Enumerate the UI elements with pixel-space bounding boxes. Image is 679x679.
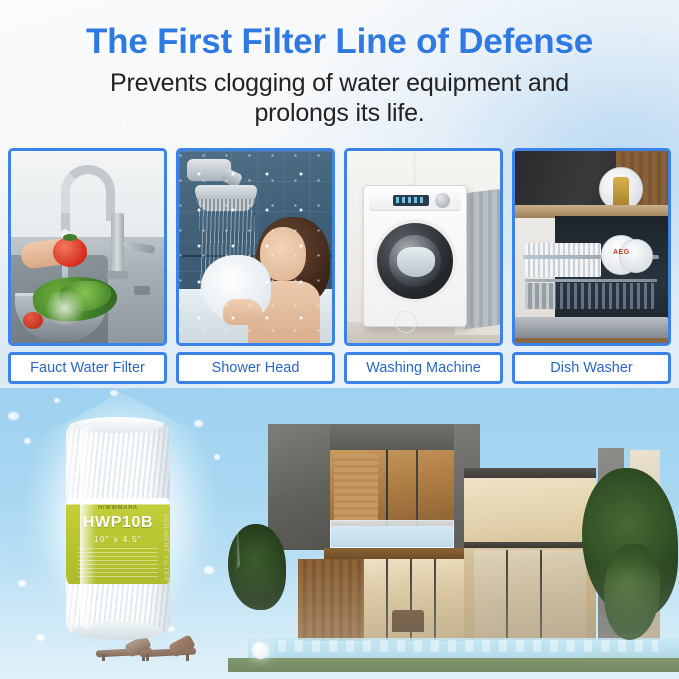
lower-rack — [525, 283, 657, 309]
subtitle-line-2: prolongs its life. — [0, 99, 679, 129]
water-droplet — [194, 420, 203, 427]
washing-machine-photo — [344, 148, 503, 346]
kitchen-floor — [515, 338, 668, 343]
sink-drain — [134, 286, 150, 295]
dishwasher-photo: AEG — [512, 148, 671, 346]
filter-cartridge: HIWWMARK HWP10B 10" x 4.5" SEDIMENT FILT… — [66, 422, 170, 634]
cartridge-highlight — [80, 426, 96, 630]
wood-soffit — [324, 548, 466, 559]
water-droplet — [36, 634, 45, 641]
application-card-shower: Shower Head — [176, 148, 335, 384]
rack-rail — [525, 279, 657, 282]
water-splash: HIWWMARK HWP10B 10" x 4.5" SEDIMENT FILT… — [0, 388, 260, 676]
right-wing-slab — [464, 542, 596, 548]
water-droplet — [8, 412, 19, 420]
window-mullion — [416, 450, 418, 526]
laundry-inside — [397, 247, 435, 277]
application-card-dishwasher: AEG Dish Washer — [512, 148, 671, 384]
caption-dishwasher: Dish Washer — [512, 352, 671, 384]
tomato — [53, 237, 87, 267]
tomato-leaf — [63, 234, 77, 241]
plate — [619, 239, 653, 273]
faucet-base — [107, 271, 128, 279]
tomato-in-bowl — [23, 312, 43, 329]
water-droplet — [24, 438, 31, 444]
program-knob — [435, 193, 450, 208]
top-section: The First Filter Line of Defense Prevent… — [0, 0, 679, 392]
house-scene: HIWWMARK HWP10B 10" x 4.5" SEDIMENT FILT… — [0, 388, 679, 679]
display-segments — [396, 197, 426, 203]
water-droplet — [204, 566, 214, 574]
product-infographic: The First Filter Line of Defense Prevent… — [0, 0, 679, 679]
faucet-column — [111, 213, 124, 275]
application-card-washer: Washing Machine — [344, 148, 503, 384]
water-droplet — [54, 398, 60, 403]
bowl-splash — [41, 291, 89, 325]
caption-washer: Washing Machine — [344, 352, 503, 384]
application-card-list: Fauct Water Filter — [8, 148, 671, 384]
cutlery-rack-items — [525, 243, 601, 277]
caption-faucet: Fauct Water Filter — [8, 352, 167, 384]
label-side-text: SEDIMENT FILTER — [162, 514, 168, 582]
appliance-brand-mark: AEG — [613, 249, 630, 256]
concrete-column-left — [268, 424, 330, 550]
faucet-photo — [8, 148, 167, 346]
window-mullion — [386, 450, 388, 526]
upper-wood-wall — [334, 454, 378, 522]
filter-cap — [395, 311, 417, 333]
machine-side-panel — [465, 189, 501, 329]
page-title: The First Filter Line of Defense — [0, 22, 679, 62]
heading-block: The First Filter Line of Defense Prevent… — [0, 22, 679, 128]
dishwasher-door — [515, 317, 668, 339]
water-droplet — [18, 580, 26, 587]
caption-shower: Shower Head — [176, 352, 335, 384]
page-subtitle: Prevents clogging of water equipment and… — [0, 69, 679, 128]
right-wing-lintel — [464, 468, 596, 478]
water-droplets — [179, 151, 332, 343]
upper-lintel — [330, 424, 454, 450]
glass-balcony — [330, 520, 454, 548]
subtitle-line-1: Prevents clogging of water equipment and — [0, 69, 679, 99]
water-droplet — [214, 454, 220, 460]
shower-photo — [176, 148, 335, 346]
application-card-faucet: Fauct Water Filter — [8, 148, 167, 384]
water-droplet — [110, 390, 118, 396]
